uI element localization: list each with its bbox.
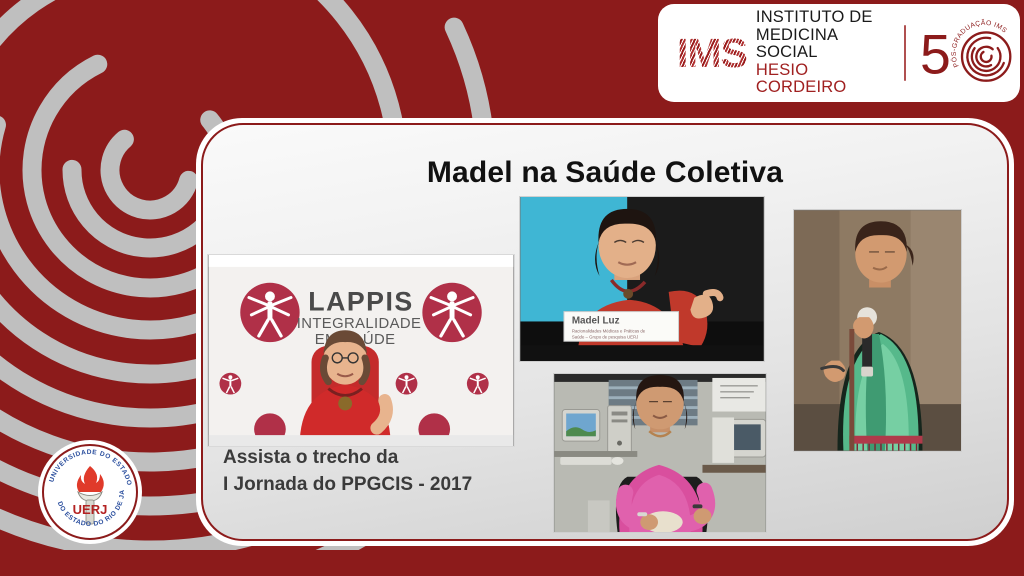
ims-logo-plate: IMS INSTITUTO DE MEDICINA SOCIAL HESIO C… — [658, 4, 1020, 102]
svg-text:Racionalidades Médicas e Práti: Racionalidades Médicas e Práticas de — [572, 328, 646, 333]
content-card-inner: Madel na Saúde Coletiva — [201, 123, 1009, 541]
lappis-backdrop-sub1: INTEGRALIDADE — [297, 316, 422, 332]
uerj-wordmark: UERJ — [73, 502, 108, 517]
nameplate-title: Madel Luz — [572, 315, 620, 326]
caption-line-1: Assista o trecho da — [223, 445, 553, 472]
svg-text:Saúde – Grupo de pesquisa UERJ: Saúde – Grupo de pesquisa UERJ — [572, 334, 638, 339]
ims-line-1: INSTITUTO DE — [756, 9, 888, 26]
photo-office-portrait — [553, 373, 767, 533]
ims-line-3: HESIO CORDEIRO — [756, 62, 888, 97]
logo-divider — [904, 25, 906, 81]
photo-microphone-talk — [793, 209, 962, 452]
photo-madel-luz-panel: Madel Luz Racionalidades Médicas e Práti… — [519, 196, 765, 362]
fifty-anniversary-icon: 5 PÓS-GRADUAÇÃO IMS — [920, 16, 1020, 90]
lappis-backdrop-title: LAPPIS — [308, 286, 413, 316]
page-title: Madel na Saúde Coletiva — [203, 156, 1007, 190]
photo-lappis-interview: LAPPIS INTEGRALIDADE EM SAÚDE — [207, 254, 515, 447]
ims-line-2: MEDICINA SOCIAL — [756, 27, 888, 62]
slide-root: IMS INSTITUTO DE MEDICINA SOCIAL HESIO C… — [0, 0, 1024, 576]
caption-block: Assista o trecho da I Jornada do PPGCIS … — [223, 445, 553, 499]
ims-monogram: IMS — [677, 33, 747, 74]
content-card: Madel na Saúde Coletiva — [196, 118, 1014, 546]
svg-text:5: 5 — [920, 24, 951, 86]
caption-line-2: I Jornada do PPGCIS - 2017 — [223, 472, 553, 499]
ims-wordmark: INSTITUTO DE MEDICINA SOCIAL HESIO CORDE… — [756, 9, 888, 96]
uerj-seal-icon: UERJ UNIVERSIDADE DO ESTADO DO ESTADO DO… — [36, 438, 144, 546]
